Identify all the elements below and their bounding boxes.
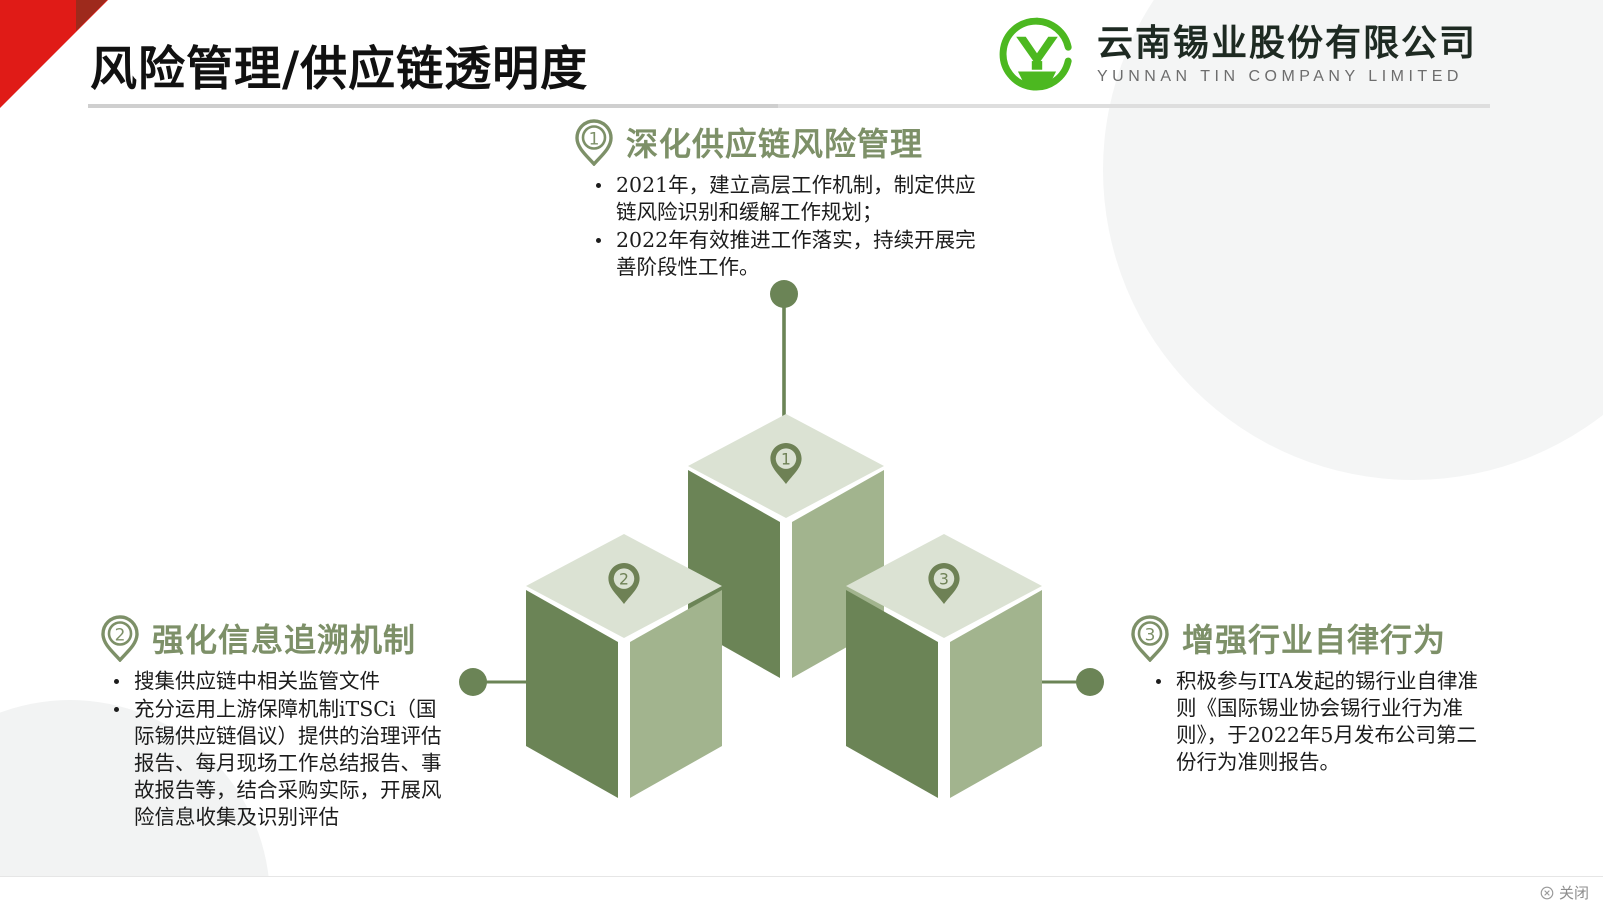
list-item: 积极参与ITA发起的锡行业自律准则《国际锡业协会锡行业行为准则》，于2022年5…: [1150, 668, 1480, 776]
section-1-bullets: 2021年，建立高层工作机制，制定供应链风险识别和缓解工作规划； 2022年有效…: [590, 172, 992, 281]
cube-2: 2: [526, 534, 722, 798]
list-item: 充分运用上游保障机制iTSCi（国际锡供应链倡议）提供的治理评估报告、每月现场工…: [108, 696, 450, 831]
svg-text:2: 2: [619, 570, 629, 588]
corner-red-dark-accent: [76, 0, 107, 31]
section-2-title: 强化信息追溯机制: [152, 615, 416, 661]
section-2-bullets: 搜集供应链中相关监管文件 充分运用上游保障机制iTSCi（国际锡供应链倡议）提供…: [108, 668, 450, 831]
map-pin-2-icon: 2: [100, 614, 140, 662]
company-name-en: YUNNAN TIN COMPANY LIMITED: [1097, 68, 1477, 86]
cube-3: 3: [846, 534, 1042, 798]
svg-text:2: 2: [115, 626, 126, 646]
connector-dot-left: [459, 668, 487, 696]
isometric-cube-stack: 1 2: [440, 270, 1120, 830]
company-name-cn: 云南锡业股份有限公司: [1097, 24, 1477, 64]
map-pin-3-icon: 3: [1130, 614, 1170, 662]
list-item: 搜集供应链中相关监管文件: [108, 668, 450, 695]
svg-text:1: 1: [589, 130, 600, 150]
slide-root: 风险管理/供应链透明度 云南锡业股份有限公司 YUNNAN TIN COMPAN…: [0, 0, 1603, 907]
map-pin-1-icon: 1: [574, 118, 614, 166]
section-1-title: 深化供应链风险管理: [626, 119, 923, 165]
section-3-header: 3 增强行业自律行为: [1130, 614, 1480, 662]
company-logo: 云南锡业股份有限公司 YUNNAN TIN COMPANY LIMITED: [993, 16, 1477, 94]
section-information-traceability: 2 强化信息追溯机制 搜集供应链中相关监管文件 充分运用上游保障机制iTSCi（…: [100, 614, 450, 832]
connector-dot-right: [1076, 668, 1104, 696]
section-3-title: 增强行业自律行为: [1182, 615, 1446, 661]
connector-dot-top: [770, 280, 798, 308]
close-button[interactable]: 关闭: [1540, 882, 1589, 903]
section-3-bullets: 积极参与ITA发起的锡行业自律准则《国际锡业协会锡行业行为准则》，于2022年5…: [1150, 668, 1480, 776]
page-title: 风险管理/供应链透明度: [90, 30, 588, 99]
close-button-label: 关闭: [1559, 882, 1589, 903]
section-1-header: 1 深化供应链风险管理: [574, 118, 992, 166]
yunnan-tin-logo-icon: [993, 16, 1081, 94]
section-supply-chain-risk-management: 1 深化供应链风险管理 2021年，建立高层工作机制，制定供应链风险识别和缓解工…: [572, 118, 992, 282]
footer-bar: [0, 876, 1603, 907]
svg-text:3: 3: [939, 570, 949, 588]
title-divider-accent: [88, 104, 778, 108]
svg-text:1: 1: [781, 450, 791, 468]
section-2-header: 2 强化信息追溯机制: [100, 614, 450, 662]
list-item: 2021年，建立高层工作机制，制定供应链风险识别和缓解工作规划；: [590, 172, 992, 226]
section-industry-self-discipline: 3 增强行业自律行为 积极参与ITA发起的锡行业自律准则《国际锡业协会锡行业行为…: [1130, 614, 1480, 777]
svg-text:3: 3: [1145, 626, 1156, 646]
close-circle-icon: [1540, 886, 1554, 900]
